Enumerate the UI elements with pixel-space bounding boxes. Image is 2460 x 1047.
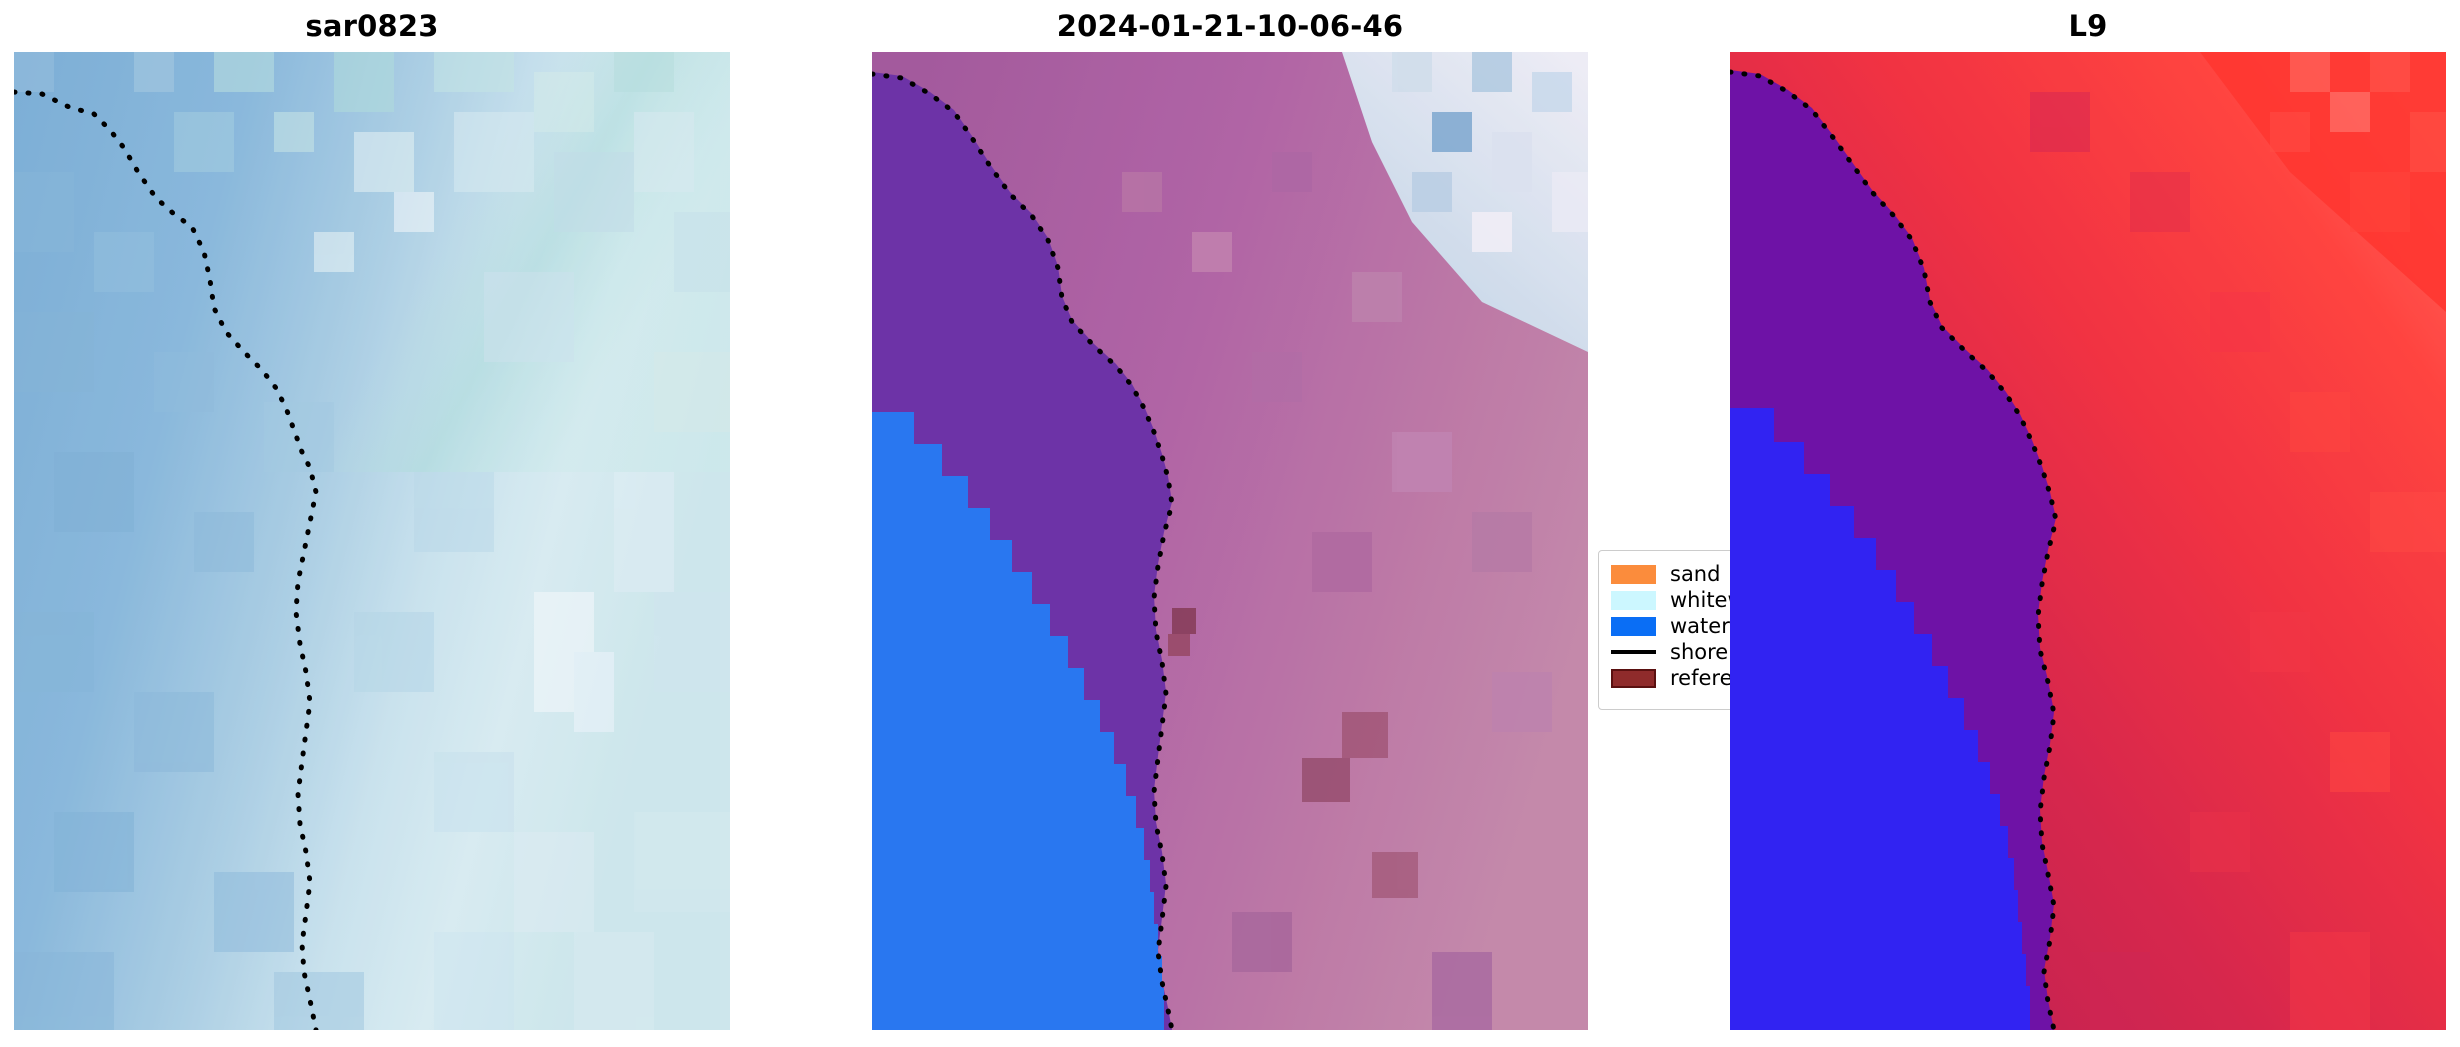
legend-label-whitewater: whitewater: [1670, 587, 1730, 613]
image-panel-classified[interactable]: [872, 52, 1588, 1030]
raster-classified: [872, 52, 1588, 1030]
panel-title-sar0823: sar0823: [14, 6, 730, 46]
image-panel-sar0823[interactable]: [14, 52, 730, 1030]
legend-swatch-water: [1611, 617, 1656, 636]
raster-l9: [1730, 52, 2446, 1030]
legend-swatch-sand: [1611, 565, 1656, 584]
legend-box[interactable]: sand whitewater water shoreline referenc…: [1598, 550, 1730, 710]
raster-sar0823: [14, 52, 730, 1030]
legend-swatch-shoreline: [1611, 650, 1656, 654]
image-panel-l9[interactable]: [1730, 52, 2446, 1030]
legend-label-sand: sand: [1670, 561, 1720, 587]
legend-clip-wrapper: sand whitewater water shoreline referenc…: [1598, 550, 1730, 710]
legend-item-water[interactable]: water: [1611, 613, 1730, 639]
legend-item-reference[interactable]: reference: [1611, 665, 1730, 691]
legend-label-shoreline: shoreline: [1670, 639, 1730, 665]
legend-label-water: water: [1670, 613, 1730, 639]
panel-title-timestamp: 2024-01-21-10-06-46: [872, 6, 1588, 46]
legend-swatch-whitewater: [1611, 591, 1656, 610]
legend-label-reference: reference: [1670, 665, 1730, 691]
legend-swatch-reference: [1611, 669, 1656, 688]
legend-item-whitewater[interactable]: whitewater: [1611, 587, 1730, 613]
legend-item-sand[interactable]: sand: [1611, 561, 1730, 587]
figure-canvas: sar0823 2024-01-21-10-06-46 L9: [0, 0, 2460, 1047]
legend-item-shoreline[interactable]: shoreline: [1611, 639, 1730, 665]
panel-title-l9: L9: [1730, 6, 2446, 46]
